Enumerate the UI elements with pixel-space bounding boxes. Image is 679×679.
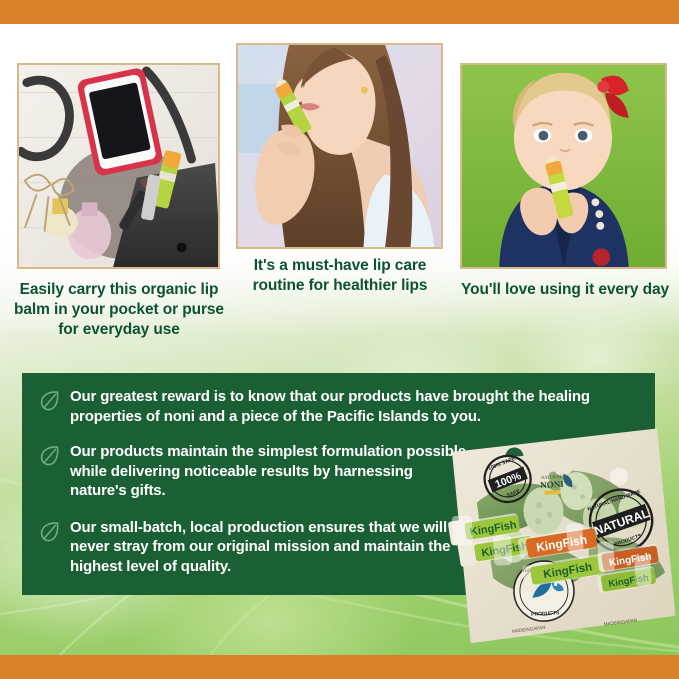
caption-photo-2: It's a must-have lip care routine for he… — [232, 256, 448, 296]
caption-photo-1: Easily carry this organic lip balm in yo… — [8, 280, 230, 339]
photo-handbag-flatlay — [17, 63, 220, 269]
svg-text:NONI: NONI — [540, 479, 565, 490]
ad-canvas: Easily carry this organic lip balm in yo… — [0, 0, 679, 679]
photo-woman-applying-balm — [236, 43, 443, 249]
photo-toddler-with-balm — [460, 63, 667, 269]
bottom-orange-band — [0, 655, 679, 679]
caption-photo-3: You'll love using it every day — [454, 280, 676, 300]
leaf-icon — [39, 389, 61, 413]
promise-item-1: Our greatest reward is to know that our … — [36, 387, 637, 426]
promise-text-2: Our products maintain the simplest formu… — [70, 442, 470, 501]
leaf-icon — [39, 444, 61, 468]
photo-row — [0, 0, 679, 290]
kingfish-lip-balm-pack-photo: 100% 100% SAFE SAFE NATURAL NONI NATURAL… — [443, 426, 679, 650]
promise-text-3: Our small-batch, local production ensure… — [70, 518, 482, 577]
promise-text-1: Our greatest reward is to know that our … — [70, 387, 637, 426]
leaf-icon — [39, 520, 61, 544]
